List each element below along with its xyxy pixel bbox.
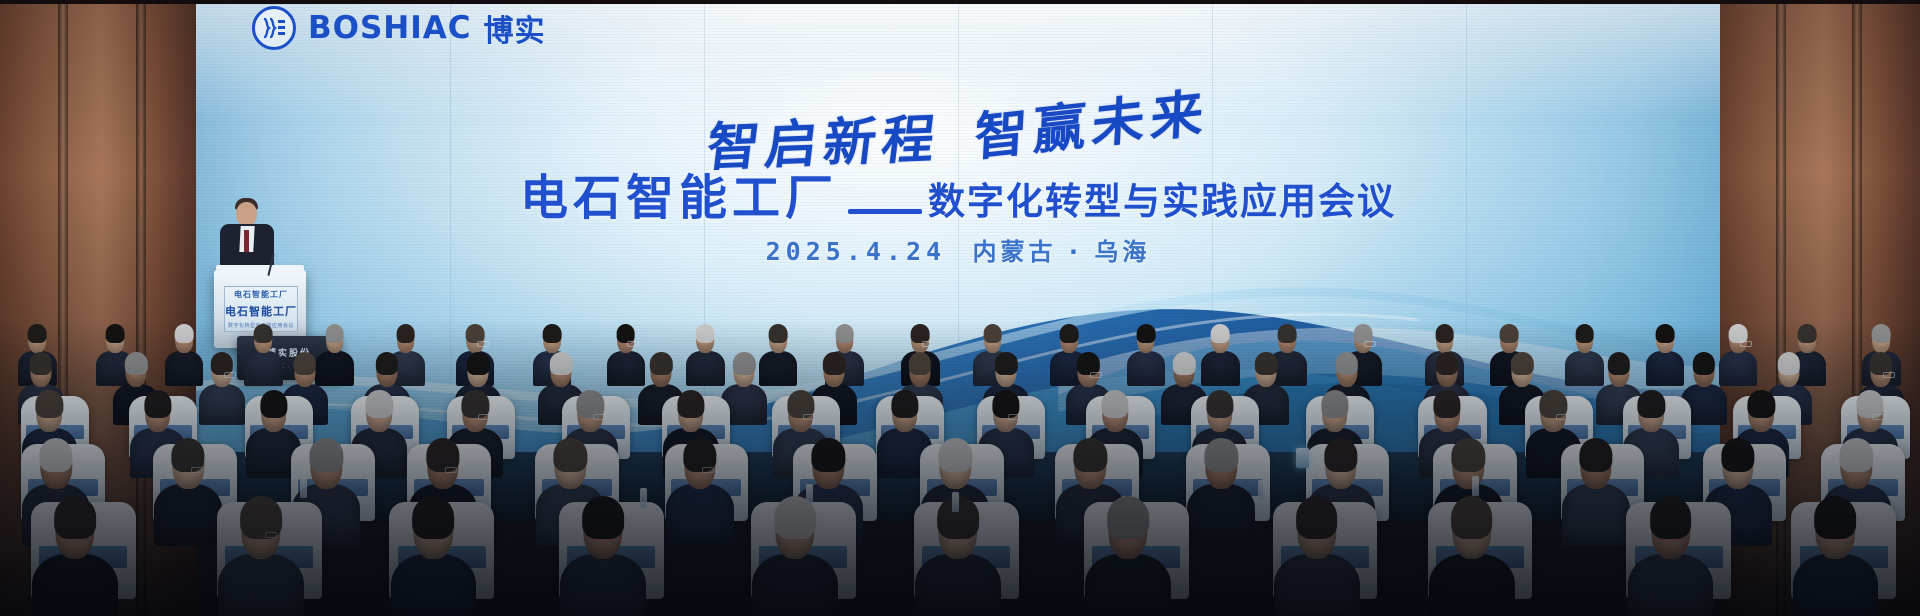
water-bottle [1258, 480, 1265, 500]
audience-member-hair [1607, 352, 1629, 375]
audience-member-hair [1206, 390, 1233, 418]
audience-member-hair [995, 352, 1017, 375]
audience-member-hair [106, 324, 125, 343]
audience-member-hair [36, 390, 63, 418]
audience-member [686, 326, 724, 386]
audience-member-hair [413, 496, 455, 539]
audience-member-hair [1452, 438, 1485, 472]
audience-member-hair [1500, 324, 1519, 343]
audience-member-torso [1793, 554, 1879, 616]
audience-member-hair [376, 352, 398, 375]
audience-member-hair [1638, 390, 1665, 418]
audience-member-hair [1840, 438, 1873, 472]
water-bottle [806, 484, 813, 504]
audience-member-hair [1136, 324, 1155, 343]
audience-member-hair [1173, 352, 1195, 375]
audience-member-hair [983, 324, 1002, 343]
audience-member-torso [1274, 554, 1360, 616]
audience-member [915, 498, 1001, 616]
brand-wordmark-cn: 博实 [484, 6, 546, 50]
audience-member-torso [165, 351, 203, 386]
audience-member-torso [1628, 554, 1714, 616]
audience-member [1127, 326, 1165, 386]
audience-member-hair [1353, 324, 1372, 343]
audience-member-hair [1321, 390, 1348, 418]
audience-member-hair [467, 352, 489, 375]
audience-member-torso [560, 554, 646, 616]
audience-member-hair [366, 390, 393, 418]
audience-member-hair [40, 438, 73, 472]
eyeglasses-icon [265, 532, 277, 538]
audience-member [1628, 498, 1714, 616]
audience-member-hair [1074, 438, 1107, 472]
screen-title-row: 电石智能工厂 数字化转型与实践应用会议 [196, 158, 1720, 228]
podium-sign-line-2: 电石智能工厂 [225, 303, 297, 319]
eyeglasses-icon [627, 341, 639, 347]
audience-member-hair [175, 324, 194, 343]
audience-member-hair [125, 352, 147, 375]
eyeglasses-icon [1090, 372, 1102, 378]
audience-member [165, 326, 203, 386]
water-bottle [1472, 476, 1479, 496]
audience-member-hair [294, 352, 316, 375]
audience-member-hair [310, 438, 343, 472]
conference-photo: 智启新程智赢未来 电石智能工厂 数字化转型与实践应用会议 2025.4.24 内… [0, 0, 1920, 616]
audience-member-torso [1646, 351, 1684, 386]
audience-member-hair [939, 438, 972, 472]
audience-member [1429, 498, 1515, 616]
audience-member-torso [244, 351, 282, 386]
audience-member [32, 498, 118, 616]
audience-area [0, 320, 1920, 616]
raised-phone-screen [1296, 448, 1309, 468]
audience-member-hair [1579, 438, 1612, 472]
eyeglasses-icon [702, 467, 714, 473]
audience-member [1646, 326, 1684, 386]
eyeglasses-icon [478, 414, 490, 420]
audience-member-torso [1201, 351, 1239, 386]
audience-member [154, 440, 222, 546]
audience-member-hair [1729, 324, 1748, 343]
audience-member-hair [733, 352, 755, 375]
eyeglasses-icon [803, 414, 815, 420]
audience-member-hair [812, 438, 845, 472]
audience-member-torso [686, 351, 724, 386]
eyeglasses-icon [224, 372, 236, 378]
audience-member [1201, 326, 1239, 386]
audience-member-hair [677, 390, 704, 418]
audience-member-hair [891, 390, 918, 418]
event-title-main: 电石智能工厂 [520, 158, 838, 228]
audience-member-torso [1562, 484, 1630, 545]
audience-member-hair [1060, 324, 1079, 343]
eyeglasses-icon [445, 467, 457, 473]
audience-member-torso [1429, 554, 1515, 616]
water-bottle [952, 492, 959, 512]
audience-member-hair [543, 324, 562, 343]
audience-member-hair [1748, 390, 1775, 418]
audience-member-hair [1451, 496, 1493, 539]
audience-member-hair [1296, 496, 1338, 539]
eyeglasses-icon [798, 532, 810, 538]
audience-member-torso [1187, 484, 1255, 545]
audience-member-torso [1085, 554, 1171, 616]
audience-member-hair [1872, 324, 1891, 343]
eyeglasses-icon [191, 467, 203, 473]
audience-member [1793, 498, 1879, 616]
event-title-subtitle: 数字化转型与实践应用会议 [928, 171, 1396, 225]
audience-member-hair [1650, 496, 1692, 539]
audience-member [199, 354, 245, 425]
screen-meta-row: 2025.4.24 内蒙古 · 乌海 [196, 232, 1720, 267]
brand-logo: BOSHIAC 博实 [252, 6, 546, 50]
water-bottle [640, 488, 647, 508]
audience-member-hair [1693, 352, 1715, 375]
audience-member-hair [769, 324, 788, 343]
audience-member-hair [144, 390, 171, 418]
audience-member-hair [396, 324, 415, 343]
audience-member [666, 440, 734, 546]
audience-member-hair [254, 324, 273, 343]
brand-wordmark: BOSHIAC [308, 10, 472, 46]
audience-member-hair [909, 352, 931, 375]
audience-member-hair [550, 352, 572, 375]
audience-member-hair [696, 324, 715, 343]
audience-member-hair [1721, 438, 1754, 472]
audience-member-hair [1777, 352, 1799, 375]
title-separator-dash [848, 209, 922, 214]
audience-member-torso [32, 554, 118, 616]
audience-member-hair [30, 352, 52, 375]
audience-member-torso [915, 554, 1001, 616]
boshiac-roundel-icon [252, 6, 296, 50]
audience-member-hair [260, 390, 287, 418]
eyeglasses-icon [922, 341, 934, 347]
audience-member-hair [823, 352, 845, 375]
podium-sign-line-1: 电石智能工厂 [234, 289, 288, 300]
eyeglasses-icon [1740, 341, 1752, 347]
audience-member [391, 498, 477, 616]
audience-member [1274, 498, 1360, 616]
audience-member [1562, 440, 1630, 546]
hall-ceiling-edge [0, 0, 1920, 4]
audience-member-hair [1102, 390, 1129, 418]
audience-member-torso [666, 484, 734, 545]
podium-top [216, 265, 304, 273]
audience-member [752, 498, 838, 616]
eyeglasses-icon [593, 414, 605, 420]
eyeglasses-icon [1883, 372, 1895, 378]
audience-member-hair [1433, 390, 1460, 418]
audience-member-hair [1107, 496, 1149, 539]
audience-member-hair [466, 324, 485, 343]
audience-member-hair [1435, 324, 1454, 343]
audience-member-hair [1511, 352, 1533, 375]
audience-member-hair [1436, 352, 1458, 375]
audience-member-hair [911, 324, 930, 343]
audience-member [1085, 498, 1171, 616]
audience-member-torso [1127, 351, 1165, 386]
eyeglasses-icon [1008, 414, 1020, 420]
eyeglasses-icon [1872, 414, 1884, 420]
audience-member-hair [1205, 438, 1238, 472]
water-bottle [300, 478, 307, 498]
eyeglasses-icon [477, 341, 489, 347]
audience-member-hair [1255, 352, 1277, 375]
audience-member-hair [835, 324, 854, 343]
audience-member [1187, 440, 1255, 546]
audience-member-hair [54, 496, 96, 539]
audience-member-hair [554, 438, 587, 472]
audience-member-torso [752, 554, 838, 616]
audience-member-hair [1575, 324, 1594, 343]
audience-member-hair [1335, 352, 1357, 375]
speaker-head [236, 202, 257, 226]
audience-member-hair [325, 324, 344, 343]
speaker-tie [244, 230, 249, 252]
audience-member-hair [1814, 496, 1856, 539]
audience-member-torso [154, 484, 222, 545]
audience-member-hair [1278, 324, 1297, 343]
audience-member-hair [28, 324, 47, 343]
audience-member-hair [1656, 324, 1675, 343]
audience-member-torso [218, 554, 304, 616]
audience-member-hair [1797, 324, 1816, 343]
audience-member-hair [1324, 438, 1357, 472]
audience-member [560, 498, 646, 616]
audience-member-hair [616, 324, 635, 343]
audience-member-torso [199, 384, 245, 425]
audience-member-hair [582, 496, 624, 539]
event-location: 内蒙古 · 乌海 [973, 238, 1151, 266]
audience-member [218, 498, 304, 616]
event-date: 2025.4.24 [766, 237, 946, 266]
audience-member-hair [650, 352, 672, 375]
eyeglasses-icon [1556, 414, 1568, 420]
eyeglasses-icon [1364, 341, 1376, 347]
audience-member-torso [391, 554, 477, 616]
audience-member [244, 326, 282, 386]
audience-member-hair [1211, 324, 1230, 343]
